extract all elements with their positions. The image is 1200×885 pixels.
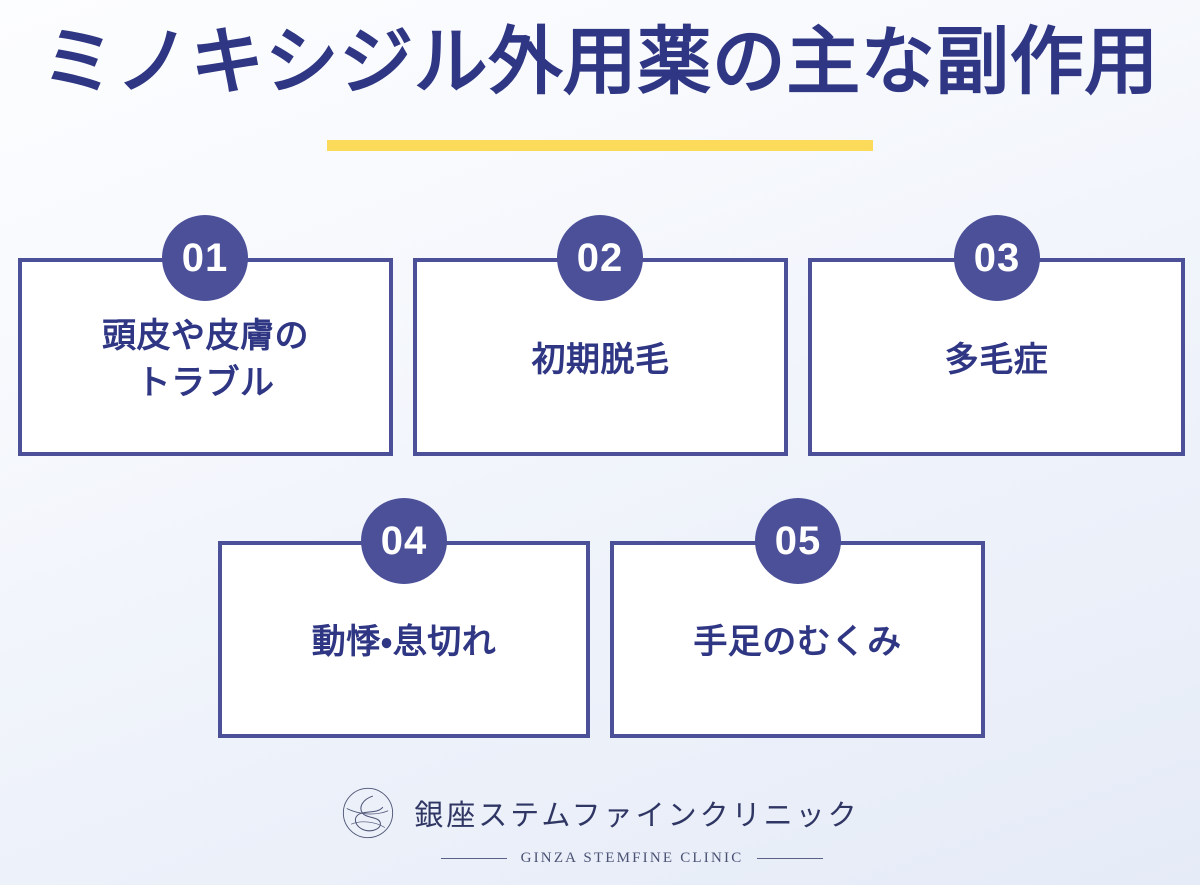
title-block: ミノキシジル外用薬の主な副作用 <box>0 22 1200 102</box>
rule-right <box>757 858 823 859</box>
side-effect-label-04: 動悸・息切れ <box>298 619 511 666</box>
title-underline-accent <box>327 140 873 151</box>
side-effect-badge-05: 05 <box>755 498 841 584</box>
footer-branding: 銀座ステムファインクリニック GINZA STEMFINE CLINIC <box>0 785 1200 867</box>
infographic-canvas: ミノキシジル外用薬の主な副作用 頭皮や皮膚の トラブル 01 初期脱毛 02 多… <box>0 0 1200 885</box>
clinic-name-jp: 銀座ステムファインクリニック <box>414 792 859 834</box>
side-effect-label-02: 初期脱毛 <box>518 337 684 384</box>
side-effect-badge-02: 02 <box>557 215 643 301</box>
clinic-name-en-row: GINZA STEMFINE CLINIC <box>441 850 824 867</box>
page-title: ミノキシジル外用薬の主な副作用 <box>0 22 1200 102</box>
side-effect-badge-01: 01 <box>162 215 248 301</box>
circle-abstract-logo-icon <box>340 785 396 841</box>
logo-row: 銀座ステムファインクリニック <box>340 785 859 841</box>
side-effect-label-05: 手足のむくみ <box>679 619 915 666</box>
rule-left <box>441 858 507 859</box>
side-effect-badge-03: 03 <box>954 215 1040 301</box>
clinic-name-en: GINZA STEMFINE CLINIC <box>521 850 744 867</box>
side-effect-label-03: 多毛症 <box>931 337 1063 384</box>
side-effect-badge-04: 04 <box>361 498 447 584</box>
side-effect-label-01: 頭皮や皮膚の トラブル <box>88 313 323 407</box>
